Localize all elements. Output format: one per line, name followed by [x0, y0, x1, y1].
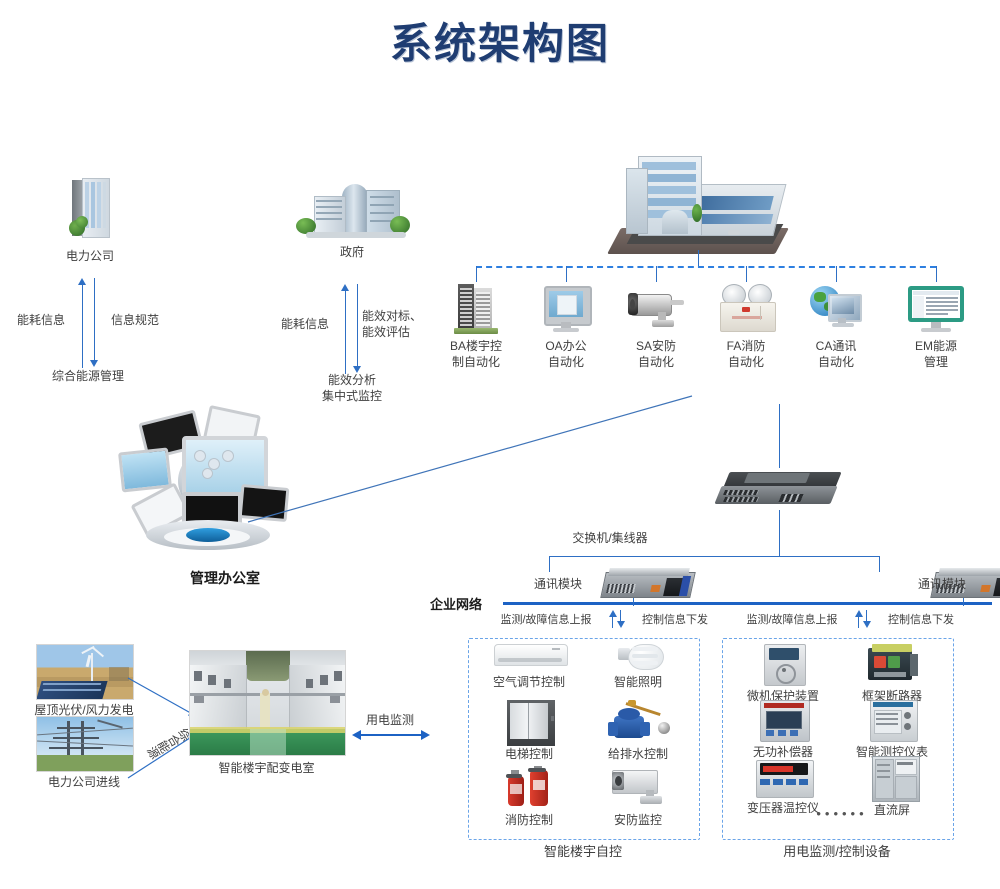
ba-item-label: 电梯控制: [474, 746, 584, 762]
protection-relay-icon: [764, 644, 804, 684]
system-label: EM能源 管理: [900, 338, 972, 370]
highrise-building-icon: [454, 282, 498, 334]
power-monitoring-caption: 用电监测/控制设备: [722, 844, 952, 860]
smart-building-3d-icon: [608, 140, 788, 260]
power-monitoring-double-arrow: [352, 730, 430, 740]
flow-arrow-pair-right: [855, 608, 871, 630]
cfl-bulb-icon: [618, 644, 662, 672]
building-automation-caption: 智能楼宇自控: [468, 844, 698, 860]
dc-panel-icon: [872, 756, 918, 800]
cctv-camera-icon: [628, 290, 686, 332]
enterprise-network-bus: [503, 602, 992, 605]
power-company-down-arrowhead: [90, 360, 98, 367]
comm-bus-line: [549, 556, 879, 557]
switch-label: 交换机/集线器: [530, 530, 690, 546]
system-drop-line: [836, 266, 837, 282]
flow-up-right-label: 监测/故障信息上报: [730, 612, 854, 628]
ba-item-label: 空气调节控制: [474, 674, 584, 690]
systems-dashed-bus: [476, 266, 936, 268]
flow-down-right-label: 控制信息下发: [873, 612, 969, 628]
power-company-up-line: [82, 284, 83, 368]
system-drop-line: [566, 266, 567, 282]
government-up-line: [345, 290, 346, 374]
security-camera-icon: [612, 770, 670, 806]
communication-module-icon: [603, 566, 697, 600]
flow-down-left-label: 控制信息下发: [627, 612, 723, 628]
comm-module-left-label: 通讯模块: [516, 576, 600, 592]
enterprise-network-label: 企业网络: [430, 597, 500, 613]
flow-arrow-pair-left: [609, 608, 625, 630]
circuit-breaker-icon: [868, 644, 918, 684]
network-switch-icon: [718, 468, 840, 510]
government-up-arrowhead: [341, 284, 349, 291]
system-label: BA楼宇控 制自动化: [440, 338, 512, 370]
building-to-bus-line: [698, 250, 699, 266]
office-to-network-line: [240, 390, 700, 530]
system-label: CA通讯 自动化: [800, 338, 872, 370]
power-box-ellipsis: ••••••: [787, 806, 897, 821]
pm-item-label: 无功补偿器: [728, 744, 838, 760]
switch-top-line: [779, 404, 780, 468]
system-node-oa[interactable]: OA办公 自动化: [530, 282, 602, 330]
system-node-em[interactable]: EM能源 管理: [900, 282, 972, 330]
ba-item-label: 智能照明: [584, 674, 692, 690]
system-drop-line: [746, 266, 747, 282]
emergency-light-icon: [720, 284, 774, 334]
government-down-label: 能效对标、 能效评估: [362, 308, 440, 340]
power-monitoring-flow-label: 用电监测: [355, 712, 425, 728]
government-building-icon: [292, 182, 412, 240]
power-company-down-line: [94, 278, 95, 362]
energy-dashboard-monitor-icon: [908, 286, 964, 334]
globe-network-icon: [810, 284, 864, 334]
management-office-label: 管理办公室: [110, 570, 340, 586]
power-company-up-arrowhead: [78, 278, 86, 285]
fire-extinguisher-icon: [506, 766, 556, 808]
system-drop-line: [936, 266, 937, 282]
government-down-line: [357, 284, 358, 368]
power-company-label: 电力公司: [20, 248, 160, 264]
comm-module-right-label: 通讯模块: [900, 576, 984, 592]
water-valve-icon: [608, 700, 672, 742]
government-up-label: 能耗信息: [272, 316, 338, 332]
power-company-down-label: 信息规范: [100, 312, 170, 328]
smart-meter-icon: [870, 700, 916, 740]
desktop-monitor-icon: [544, 286, 588, 334]
air-conditioner-icon: [494, 644, 566, 670]
switchgear-room-photo: [189, 650, 346, 756]
switch-down-line: [779, 510, 780, 556]
comm-right-drop: [879, 556, 880, 572]
page-title: 系统架构图: [0, 10, 1000, 71]
ba-item-label: 消防控制: [474, 812, 584, 828]
power-company-up-label: 能耗信息: [8, 312, 74, 328]
transformer-temp-controller-icon: [756, 760, 812, 796]
comm-left-to-bus: [633, 598, 634, 606]
integrated-energy-management-label: 综合能源管理: [18, 368, 158, 384]
flow-up-left-label: 监测/故障信息上报: [484, 612, 608, 628]
system-drop-line: [656, 266, 657, 282]
comm-left-drop: [549, 556, 550, 572]
reactive-compensator-icon: [760, 700, 808, 740]
system-label: FA消防 自动化: [710, 338, 782, 370]
ba-item-label: 安防监控: [584, 812, 692, 828]
comm-right-to-bus: [963, 598, 964, 606]
system-label: SA安防 自动化: [620, 338, 692, 370]
office-tower-icon: [68, 178, 114, 240]
ba-item-label: 给排水控制: [584, 746, 692, 762]
system-label: OA办公 自动化: [530, 338, 602, 370]
system-drop-line: [476, 266, 477, 282]
elevator-icon: [507, 700, 551, 742]
substation-label: 智能楼宇配变电室: [179, 760, 354, 776]
government-label: 政府: [282, 244, 422, 260]
